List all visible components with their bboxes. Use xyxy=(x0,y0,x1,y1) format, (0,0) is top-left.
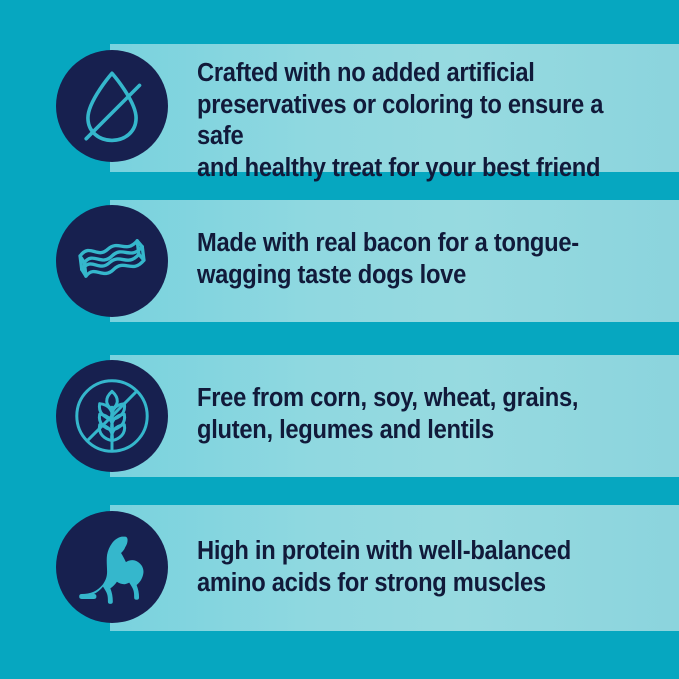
feature-text: Made with real bacon for a tongue- waggi… xyxy=(197,228,632,291)
feature-row: Free from corn, soy, wheat, grains, glut… xyxy=(0,355,679,477)
dog-silhouette-icon xyxy=(56,511,168,623)
feature-text: Free from corn, soy, wheat, grains, glut… xyxy=(197,383,632,446)
feature-row: High in protein with well-balanced amino… xyxy=(0,505,679,631)
feature-text: Crafted with no added artificial preserv… xyxy=(197,58,632,184)
feature-text: High in protein with well-balanced amino… xyxy=(197,536,632,599)
feature-row: Crafted with no added artificial preserv… xyxy=(0,44,679,172)
bacon-strip-icon xyxy=(56,205,168,317)
no-grain-wheat-icon xyxy=(56,360,168,472)
product-benefits-infographic: Crafted with no added artificial preserv… xyxy=(0,0,679,679)
feature-row: Made with real bacon for a tongue- waggi… xyxy=(0,200,679,322)
no-artificial-droplet-icon xyxy=(56,50,168,162)
